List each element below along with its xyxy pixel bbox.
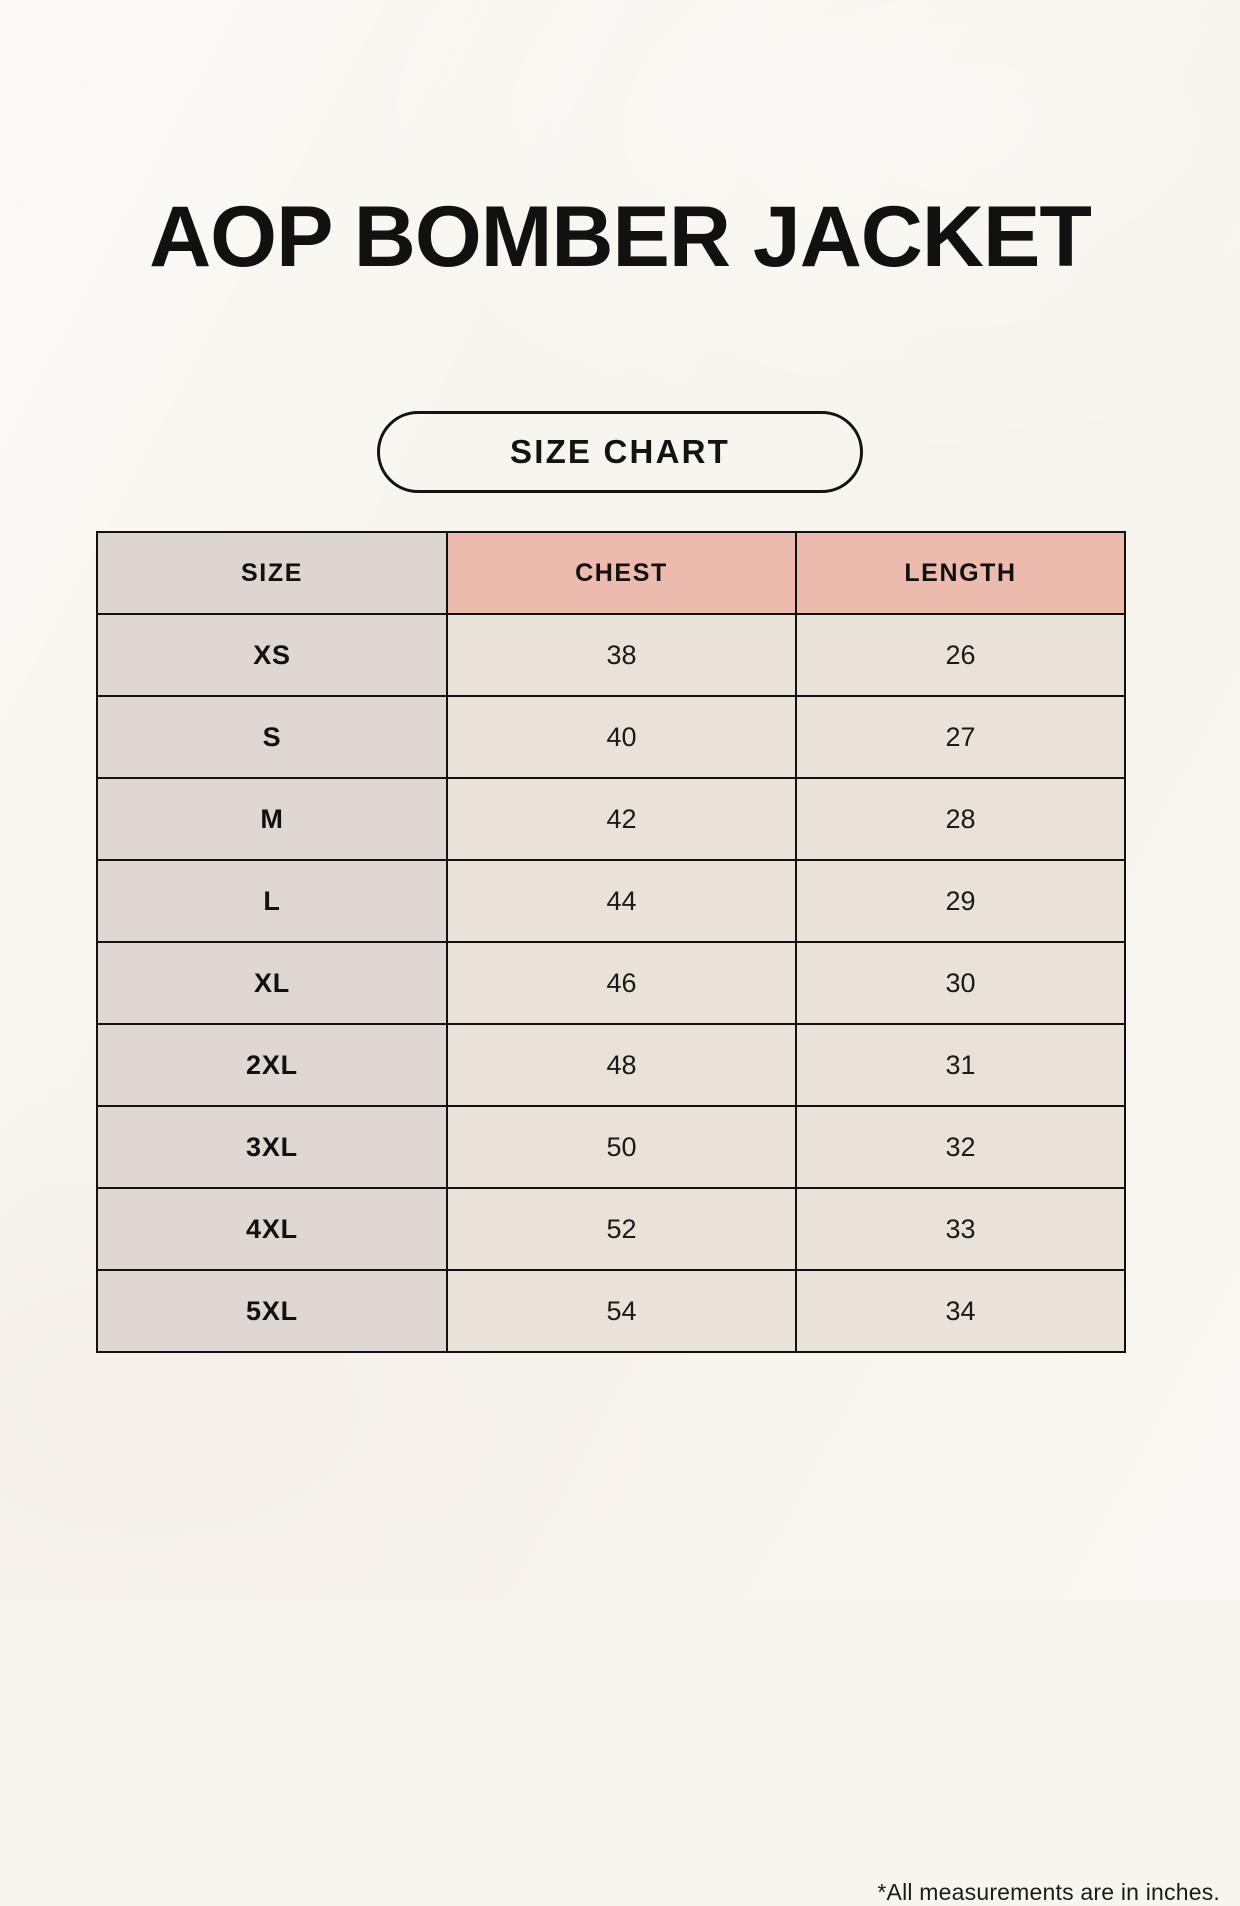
cell-chest: 50 xyxy=(447,1106,796,1188)
column-header-length: LENGTH xyxy=(796,532,1125,614)
size-table: SIZE CHEST LENGTH XS 38 26 S 40 27 M xyxy=(96,531,1126,1353)
cell-length: 30 xyxy=(796,942,1125,1024)
size-table-body: XS 38 26 S 40 27 M 42 28 L 44 29 xyxy=(97,614,1125,1352)
size-table-head: SIZE CHEST LENGTH xyxy=(97,532,1125,614)
cell-length: 27 xyxy=(796,696,1125,778)
cell-chest: 46 xyxy=(447,942,796,1024)
cell-length: 29 xyxy=(796,860,1125,942)
cell-chest: 48 xyxy=(447,1024,796,1106)
column-header-size: SIZE xyxy=(97,532,447,614)
cell-size: 4XL xyxy=(97,1188,447,1270)
cell-length: 28 xyxy=(796,778,1125,860)
size-table-container: SIZE CHEST LENGTH XS 38 26 S 40 27 M xyxy=(96,531,1124,1353)
table-header-row: SIZE CHEST LENGTH xyxy=(97,532,1125,614)
size-chart-badge-label: SIZE CHART xyxy=(510,433,730,471)
size-chart-badge: SIZE CHART xyxy=(377,411,863,493)
cell-chest: 42 xyxy=(447,778,796,860)
table-row: M 42 28 xyxy=(97,778,1125,860)
table-row: 3XL 50 32 xyxy=(97,1106,1125,1188)
table-row: XS 38 26 xyxy=(97,614,1125,696)
table-row: 5XL 54 34 xyxy=(97,1270,1125,1352)
measurement-footnote: *All measurements are in inches. xyxy=(96,1879,1220,1906)
cell-size: XL xyxy=(97,942,447,1024)
page-title: AOP BOMBER JACKET xyxy=(0,196,1240,279)
table-row: 4XL 52 33 xyxy=(97,1188,1125,1270)
badge-container: SIZE CHART xyxy=(0,411,1240,493)
cell-chest: 40 xyxy=(447,696,796,778)
table-row: L 44 29 xyxy=(97,860,1125,942)
cell-chest: 44 xyxy=(447,860,796,942)
cell-length: 32 xyxy=(796,1106,1125,1188)
cell-length: 34 xyxy=(796,1270,1125,1352)
cell-chest: 54 xyxy=(447,1270,796,1352)
cell-length: 31 xyxy=(796,1024,1125,1106)
cell-size: 3XL xyxy=(97,1106,447,1188)
cell-size: 2XL xyxy=(97,1024,447,1106)
cell-size: 5XL xyxy=(97,1270,447,1352)
table-row: S 40 27 xyxy=(97,696,1125,778)
table-row: XL 46 30 xyxy=(97,942,1125,1024)
table-row: 2XL 48 31 xyxy=(97,1024,1125,1106)
cell-size: XS xyxy=(97,614,447,696)
cell-size: L xyxy=(97,860,447,942)
title-block: AOP BOMBER JACKET xyxy=(0,196,1240,279)
column-header-chest: CHEST xyxy=(447,532,796,614)
cell-length: 33 xyxy=(796,1188,1125,1270)
size-chart-page: AOP BOMBER JACKET SIZE CHART SIZE CHEST … xyxy=(0,0,1240,1600)
cell-size: S xyxy=(97,696,447,778)
cell-chest: 52 xyxy=(447,1188,796,1270)
cell-size: M xyxy=(97,778,447,860)
cell-chest: 38 xyxy=(447,614,796,696)
cell-length: 26 xyxy=(796,614,1125,696)
